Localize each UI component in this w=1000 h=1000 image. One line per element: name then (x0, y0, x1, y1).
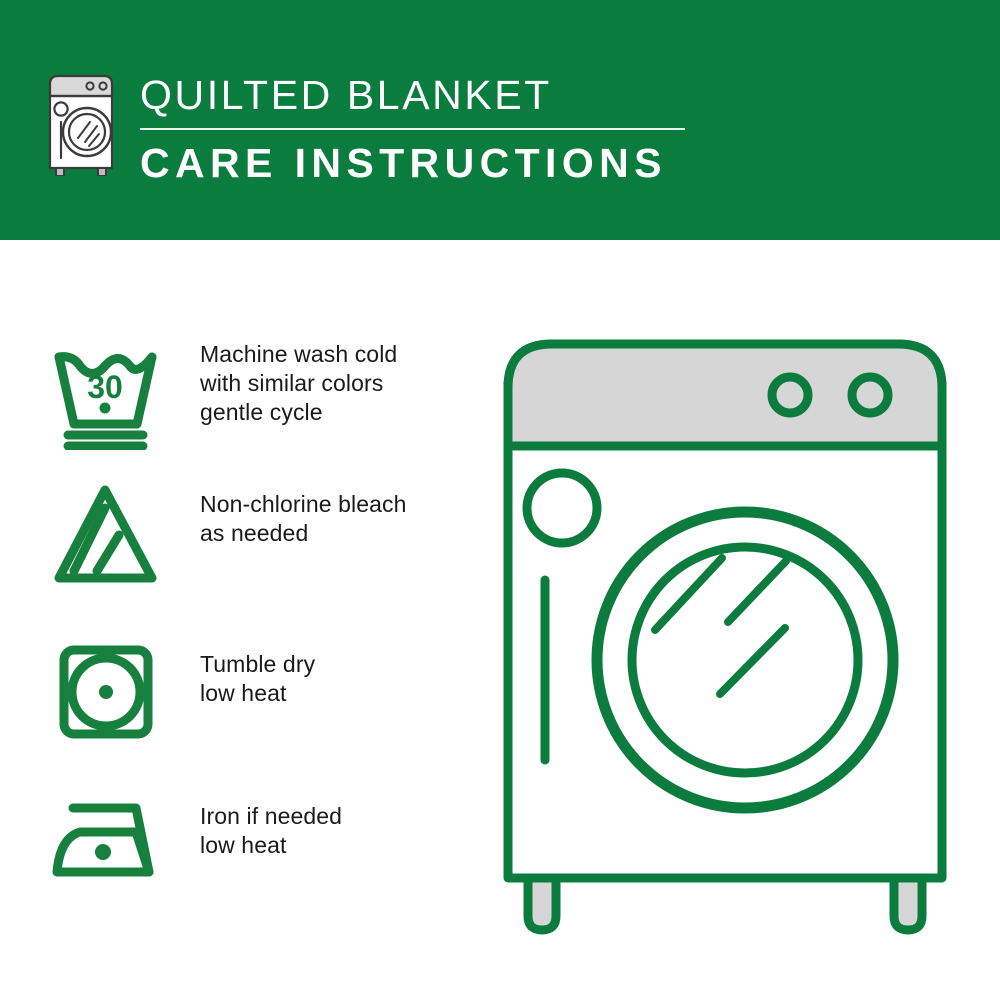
care-text-line: with similar colors (200, 369, 478, 398)
care-instructions-infographic: QUILTED BLANKET CARE INSTRUCTIONS (0, 0, 1000, 1000)
page-subtitle: CARE INSTRUCTIONS (140, 138, 740, 188)
care-text-tumble-dry: Tumble dry low heat (200, 650, 478, 708)
top-control-panel (508, 344, 942, 446)
care-row-iron: Iron if needed low heat (0, 790, 480, 920)
care-text-line: Non-chlorine bleach (200, 490, 478, 519)
care-instruction-list: 30 Machine wash cold with similar colors… (0, 240, 480, 1000)
machine-wash-30-gentle-icon: 30 (48, 340, 164, 450)
page-title: QUILTED BLANKET (140, 70, 740, 120)
care-text-bleach: Non-chlorine bleach as needed (200, 490, 478, 548)
header-banner: QUILTED BLANKET CARE INSTRUCTIONS (0, 0, 1000, 240)
non-chlorine-bleach-icon (48, 480, 164, 590)
care-text-line: low heat (200, 831, 478, 860)
wash-temperature-value: 30 (87, 369, 123, 405)
care-text-line: as needed (200, 519, 478, 548)
care-text-line: gentle cycle (200, 398, 478, 427)
care-text-machine-wash: Machine wash cold with similar colors ge… (200, 340, 478, 427)
care-text-line: Machine wash cold (200, 340, 478, 369)
title-divider (140, 128, 685, 130)
tumble-dry-low-heat-icon (48, 640, 164, 750)
iron-low-heat-icon (48, 790, 164, 900)
leg-left (528, 878, 556, 930)
header-title-block: QUILTED BLANKET CARE INSTRUCTIONS (140, 70, 740, 188)
leg-right (894, 878, 922, 930)
care-text-line: Iron if needed (200, 802, 478, 831)
front-load-washing-machine-illustration (490, 330, 960, 940)
care-row-machine-wash: 30 Machine wash cold with similar colors… (0, 340, 480, 470)
care-text-line: low heat (200, 679, 478, 708)
care-text-line: Tumble dry (200, 650, 478, 679)
care-text-iron: Iron if needed low heat (200, 802, 478, 860)
care-row-tumble-dry: Tumble dry low heat (0, 640, 480, 770)
washing-machine-icon (44, 72, 116, 176)
care-row-bleach: Non-chlorine bleach as needed (0, 480, 480, 610)
